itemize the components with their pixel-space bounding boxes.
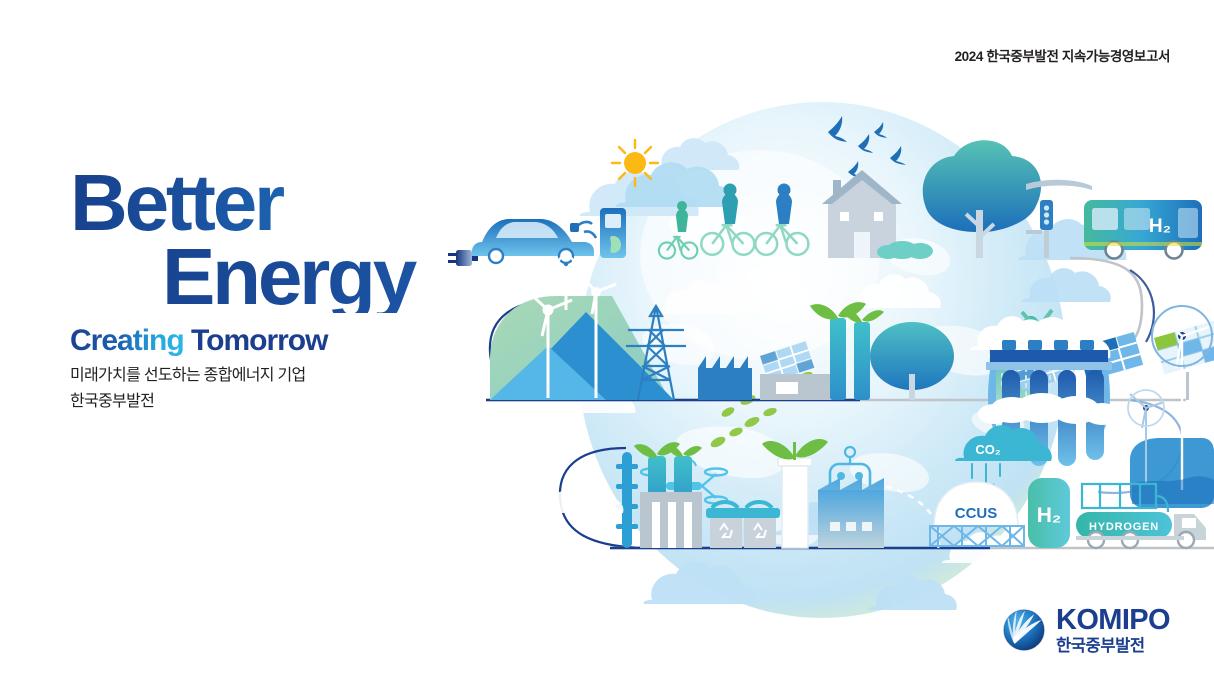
subtitle-line-2: 한국중부발전 xyxy=(70,389,306,415)
hydrogen-tank-icon: H₂ xyxy=(1028,478,1070,548)
subtitle-line-1: 미래가치를 선도하는 종합에너지 기업 xyxy=(70,363,306,389)
logo-subname: 한국중부발전 xyxy=(1056,638,1170,655)
globe-rays-icon xyxy=(1001,607,1047,653)
komipo-logo: KOMIPO 한국중부발전 xyxy=(1001,606,1170,655)
chemical-plant-icon xyxy=(616,442,702,548)
logo-text-block: KOMIPO 한국중부발전 xyxy=(1056,606,1170,655)
bus-fuel-label: H₂ xyxy=(1149,216,1171,237)
co2-label: CO₂ xyxy=(975,442,1001,457)
sun-icon xyxy=(612,140,658,186)
hydrogen-tank-label: H₂ xyxy=(1037,504,1062,527)
hydrogen-bus-icon: H₂ xyxy=(1084,200,1202,259)
logo-wordmark: KOMIPO xyxy=(1056,606,1170,635)
smart-factory-icon xyxy=(818,478,884,548)
hydrogen-truck-label: HYDROGEN xyxy=(1089,521,1159,533)
ccus-label: CCUS xyxy=(955,505,998,522)
tagline-word-tomorrow: Tomorrow xyxy=(191,324,327,357)
energy-globe-illustration: H₂ xyxy=(430,60,1214,620)
tagline-word-creating: Creating xyxy=(70,324,184,357)
report-cover-page: 2024 한국중부발전 지속가능경영보고서 Better Energy Crea… xyxy=(0,0,1214,699)
subtitle-block: 미래가치를 선도하는 종합에너지 기업 한국중부발전 xyxy=(70,363,306,414)
